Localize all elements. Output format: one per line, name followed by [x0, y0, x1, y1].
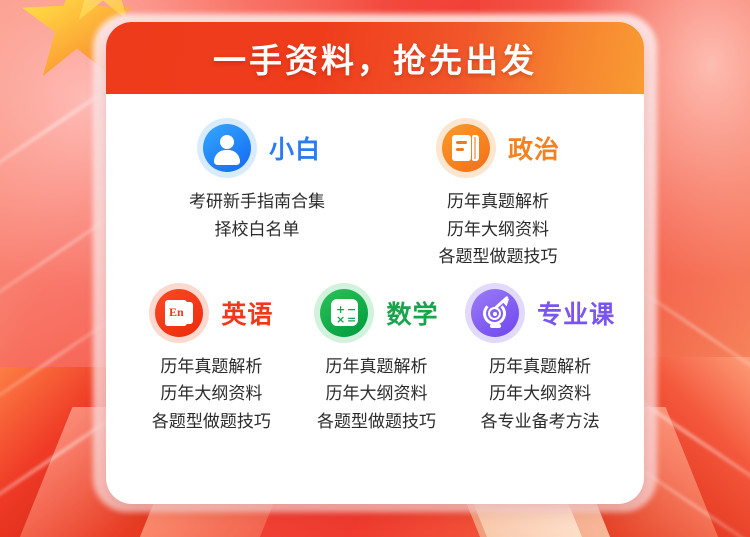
section-shuxue[interactable]: + − × = 数学 历年真题解析 历年大纲资料 各题型做题技巧 — [293, 283, 461, 436]
section-label-xiaobai: 小白 — [269, 130, 321, 166]
section-line: 历年真题解析 — [130, 353, 293, 381]
icon-disc: + − × = — [320, 289, 368, 337]
section-header-shuxue: + − × = 数学 — [293, 283, 461, 343]
icon-disc: En — [155, 289, 203, 337]
section-lines-shuxue: 历年真题解析 历年大纲资料 各题型做题技巧 — [293, 353, 461, 436]
section-zhuanye[interactable]: 专业课 历年真题解析 历年大纲资料 各专业备考方法 — [460, 283, 620, 436]
card-header: 一手资料，抢先出发 — [106, 22, 644, 94]
section-header-zhengzhi: 政治 — [376, 118, 620, 178]
icon-disc — [203, 124, 251, 172]
calc-equals: = — [347, 314, 356, 325]
section-line: 历年大纲资料 — [376, 216, 620, 244]
english-icon-text: En — [165, 300, 187, 326]
section-xiaobai[interactable]: 小白 考研新手指南合集 择校白名单 — [130, 118, 362, 271]
notebook-icon — [436, 118, 496, 178]
section-yingyu[interactable]: En 英语 历年真题解析 历年大纲资料 各题型做题技巧 — [130, 283, 293, 436]
person-icon — [197, 118, 257, 178]
section-line: 历年真题解析 — [460, 353, 620, 381]
english-glyph: En — [165, 300, 193, 326]
section-line: 历年真题解析 — [376, 188, 620, 216]
section-header-zhuanye: 专业课 — [460, 283, 620, 343]
section-line: 历年真题解析 — [293, 353, 461, 381]
section-line: 各专业备考方法 — [460, 408, 620, 436]
card-body: 小白 考研新手指南合集 择校白名单 — [106, 94, 644, 435]
section-lines-yingyu: 历年真题解析 历年大纲资料 各题型做题技巧 — [130, 353, 293, 436]
section-label-shuxue: 数学 — [386, 295, 438, 331]
english-book-icon: En — [149, 283, 209, 343]
section-line: 各题型做题技巧 — [376, 243, 620, 271]
section-line: 各题型做题技巧 — [293, 408, 461, 436]
section-lines-zhengzhi: 历年真题解析 历年大纲资料 各题型做题技巧 — [376, 188, 620, 271]
section-line: 择校白名单 — [156, 216, 358, 244]
target-glyph — [481, 298, 510, 327]
section-lines-zhuanye: 历年真题解析 历年大纲资料 各专业备考方法 — [460, 353, 620, 436]
section-header-xiaobai: 小白 — [156, 118, 362, 178]
section-line: 各题型做题技巧 — [130, 408, 293, 436]
target-icon — [465, 283, 525, 343]
section-label-zhengzhi: 政治 — [508, 130, 560, 166]
notebook-glyph — [452, 135, 479, 161]
page-title: 一手资料，抢先出发 — [213, 34, 537, 82]
info-card: 一手资料，抢先出发 小白 — [106, 22, 644, 504]
section-zhengzhi[interactable]: 政治 历年真题解析 历年大纲资料 各题型做题技巧 — [362, 118, 620, 271]
calculator-glyph: + − × = — [331, 299, 358, 326]
section-header-yingyu: En 英语 — [130, 283, 293, 343]
section-row-bottom: En 英语 历年真题解析 历年大纲资料 各题型做题技巧 — [130, 283, 620, 436]
icon-disc — [442, 124, 490, 172]
section-label-yingyu: 英语 — [221, 295, 273, 331]
calculator-icon: + − × = — [314, 283, 374, 343]
section-line: 历年大纲资料 — [293, 380, 461, 408]
calc-times: × — [336, 314, 345, 325]
section-row-top: 小白 考研新手指南合集 择校白名单 — [130, 118, 620, 271]
icon-disc — [471, 289, 519, 337]
section-line: 历年大纲资料 — [460, 380, 620, 408]
section-label-zhuanye: 专业课 — [537, 295, 615, 331]
section-line: 历年大纲资料 — [130, 380, 293, 408]
section-lines-xiaobai: 考研新手指南合集 择校白名单 — [156, 188, 362, 243]
section-line: 考研新手指南合集 — [156, 188, 358, 216]
person-glyph — [203, 124, 251, 172]
